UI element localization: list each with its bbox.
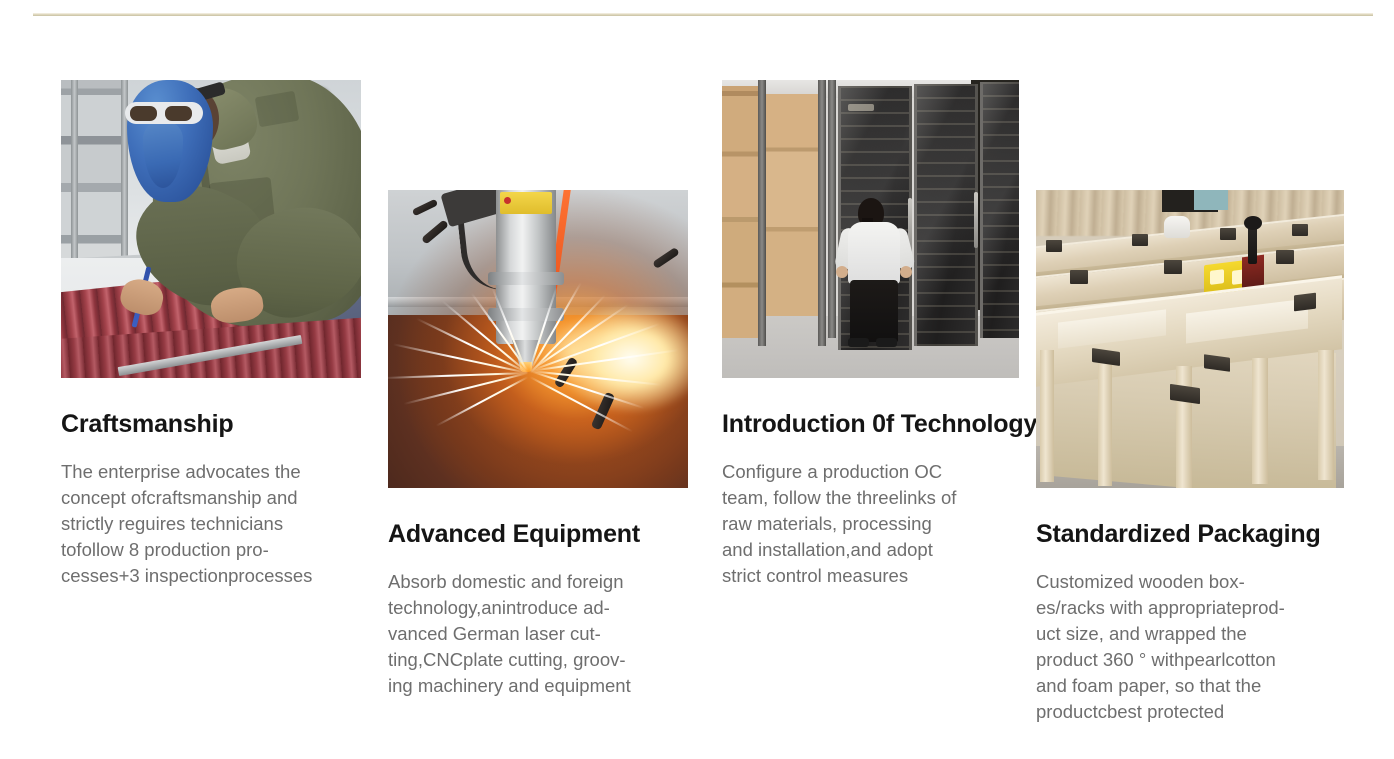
- black-tool-handle: [1248, 224, 1257, 264]
- feature-card-craftsmanship: Craftsmanship The enterprise advocates t…: [61, 80, 361, 589]
- white-wrapped-item: [1164, 216, 1190, 238]
- door-handle: [974, 192, 978, 248]
- visitor-shoe: [876, 338, 897, 347]
- box-label: [1210, 269, 1224, 285]
- feature-card-introduction-of-technology: Introduction 0f Technology Configure a p…: [722, 80, 1022, 589]
- feature-card-standardized-packaging: Standardized Packaging Customized wooden…: [1036, 190, 1336, 725]
- metal-bracket: [1276, 250, 1294, 264]
- metal-bracket: [1046, 240, 1062, 252]
- card-body: Configure a production OC team, follow t…: [722, 459, 992, 589]
- card-body: The enterprise advocates the concept ofc…: [61, 459, 357, 589]
- black-tool-head: [1244, 216, 1262, 230]
- metal-bracket: [1294, 293, 1316, 312]
- visitor-shirt: [848, 222, 900, 284]
- head-ring: [488, 272, 564, 285]
- metal-bracket: [1132, 234, 1148, 246]
- craftsmanship-photo: [61, 80, 361, 378]
- door-reflection: [917, 84, 975, 346]
- visitor-trousers: [850, 280, 898, 342]
- wood-panel-display: [766, 94, 818, 316]
- metal-bracket: [1164, 260, 1182, 274]
- glass-door-panel: [980, 82, 1019, 338]
- card-body: Absorb domestic and foreign technology,a…: [388, 569, 684, 699]
- metal-bracket: [1292, 224, 1308, 236]
- feature-card-advanced-equipment: Advanced Equipment Absorb domestic and f…: [388, 190, 688, 699]
- card-title: Advanced Equipment: [388, 520, 688, 549]
- display-frame: [758, 80, 766, 346]
- visitor-hand: [900, 266, 912, 278]
- glass-door-panel: [914, 84, 978, 346]
- feature-grid-page: Craftsmanship The enterprise advocates t…: [0, 0, 1394, 759]
- door-reflection: [983, 82, 1019, 338]
- label-dot: [504, 197, 511, 204]
- technology-photo: [722, 80, 1019, 378]
- card-title: Introduction 0f Technology: [722, 410, 1022, 439]
- crate-slat: [1318, 350, 1334, 480]
- metal-bracket: [1220, 228, 1236, 240]
- display-frame: [818, 80, 826, 346]
- goggle-lens: [130, 106, 157, 121]
- door-logo-plate: [848, 104, 874, 111]
- advanced-equipment-photo: [388, 190, 688, 488]
- crate-slat: [1252, 358, 1268, 484]
- card-title: Craftsmanship: [61, 410, 361, 439]
- card-body: Customized wooden box- es/racks with app…: [1036, 569, 1336, 725]
- top-divider-rule: [33, 13, 1373, 16]
- display-frame: [828, 80, 836, 338]
- visitor-hand: [836, 266, 848, 278]
- packaging-photo: [1036, 190, 1344, 488]
- crate-slat: [1098, 358, 1112, 486]
- goggle-lens: [165, 106, 192, 121]
- crate-slat: [1040, 350, 1054, 482]
- teal-background-wall: [1194, 190, 1228, 210]
- metal-bracket: [1070, 270, 1088, 284]
- card-title: Standardized Packaging: [1036, 520, 1336, 549]
- visitor-shoe: [848, 338, 869, 347]
